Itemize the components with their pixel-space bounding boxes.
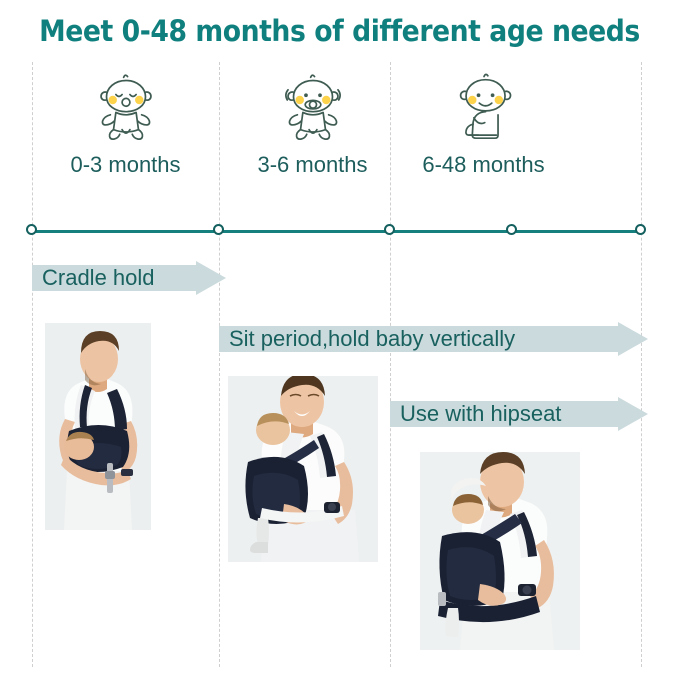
sleeping-baby-icon [87, 68, 165, 146]
page-title: Meet 0-48 months of different age needs [27, 14, 652, 48]
age-group-6-48: 6-48 months [390, 68, 577, 178]
sitting-baby-icon [445, 68, 523, 146]
photo-cradle-hold [45, 323, 151, 530]
stage-arrow-cradle-hold: Cradle hold [32, 261, 226, 295]
age-group-3-6: 3-6 months [219, 68, 406, 178]
timeline-dot [506, 224, 517, 235]
stage-arrow-sit-period: Sit period,hold baby vertically [219, 322, 648, 356]
age-group-label: 6-48 months [390, 152, 577, 178]
timeline-dot [384, 224, 395, 235]
age-group-0-3: 0-3 months [32, 68, 219, 178]
photo-front-carry-image [228, 376, 378, 562]
timeline-axis [32, 230, 641, 233]
age-needs-infographic: Meet 0-48 months of different age needs [0, 0, 679, 679]
age-group-label: 3-6 months [219, 152, 406, 178]
pacifier-baby-icon [274, 68, 352, 146]
vertical-guide-4 [641, 62, 642, 667]
photo-hipseat-carry [420, 452, 580, 650]
photo-front-carry [228, 376, 378, 562]
timeline-dot [635, 224, 646, 235]
stage-label: Use with hipseat [390, 401, 561, 427]
stage-label: Sit period,hold baby vertically [219, 326, 515, 352]
age-group-label: 0-3 months [32, 152, 219, 178]
timeline-dot [26, 224, 37, 235]
timeline-dot [213, 224, 224, 235]
stage-arrow-hipseat: Use with hipseat [390, 397, 648, 431]
stage-label: Cradle hold [32, 265, 155, 291]
photo-cradle-hold-image [45, 323, 151, 530]
photo-hipseat-carry-image [420, 452, 580, 650]
